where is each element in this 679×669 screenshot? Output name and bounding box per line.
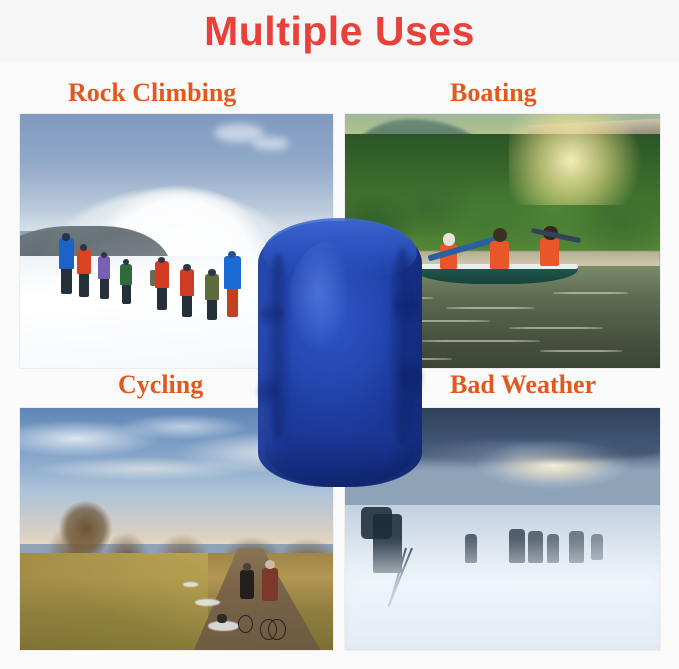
climber-figure: [177, 269, 199, 317]
water-ripple: [553, 292, 629, 294]
product-infographic: Multiple Uses Rock Climbing Boating Cycl…: [0, 0, 679, 669]
caption-boating: Boating: [450, 80, 537, 106]
cloud-shape: [252, 137, 290, 150]
caption-bad-weather: Bad Weather: [450, 372, 596, 398]
cyclist-figure: [236, 570, 258, 633]
dog-figure: [217, 614, 226, 624]
field-sunlight: [20, 553, 208, 650]
water-ripple: [414, 340, 540, 342]
cover-crease-left: [265, 253, 291, 439]
climber-figure: [73, 249, 95, 297]
climber-figure: [151, 261, 173, 309]
cyclist-figure: [258, 568, 283, 641]
cover-fold: [393, 290, 419, 322]
life-vest: [540, 238, 559, 266]
water-ripple: [446, 307, 534, 309]
caption-cycling: Cycling: [118, 372, 203, 398]
climber-figure: [95, 256, 114, 299]
cover-fold: [258, 375, 278, 407]
cover-crease-right: [388, 248, 418, 445]
cover-fold: [399, 359, 422, 396]
sun-glow: [509, 114, 648, 205]
hiker-backpack: [361, 507, 393, 538]
title-bar: Multiple Uses: [0, 0, 679, 62]
blowing-snow: [345, 539, 660, 650]
life-vest: [490, 241, 509, 269]
backpack-rain-cover-product: [258, 221, 422, 487]
page-title: Multiple Uses: [204, 11, 475, 52]
climber-figure: [117, 264, 136, 305]
caption-rock-climbing: Rock Climbing: [68, 80, 236, 106]
cover-highlight: [284, 242, 369, 407]
climber-figure: [220, 256, 245, 317]
